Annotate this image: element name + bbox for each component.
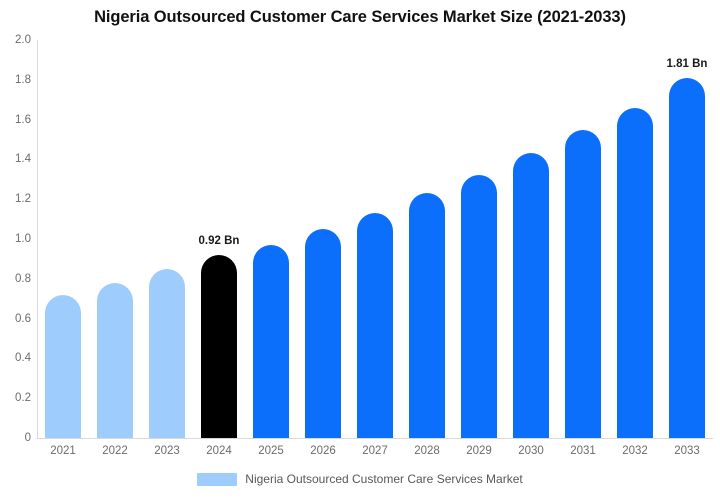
bar-2029[interactable] — [461, 175, 497, 438]
legend-swatch-icon — [197, 473, 237, 486]
y-tick-label: 1.6 — [15, 114, 31, 126]
x-tick-label-2026: 2026 — [297, 445, 349, 457]
bar-2027[interactable] — [357, 213, 393, 438]
x-tick-label-2027: 2027 — [349, 445, 401, 457]
bar-2031[interactable] — [565, 130, 601, 438]
bar-value-label-2024: 0.92 Bn — [199, 235, 240, 247]
x-tick-label-2030: 2030 — [505, 445, 557, 457]
bar-2030[interactable] — [513, 153, 549, 438]
bar-2022[interactable] — [97, 283, 133, 438]
y-tick-label: 0.2 — [15, 392, 31, 404]
y-axis: 2.01.81.61.41.21.00.80.60.40.20 — [0, 0, 31, 500]
y-tick-label: 0.8 — [15, 273, 31, 285]
bar-2028[interactable] — [409, 193, 445, 438]
bar-2032[interactable] — [617, 108, 653, 438]
y-tick-label: 0.4 — [15, 352, 31, 364]
x-tick-label-2028: 2028 — [401, 445, 453, 457]
bar-group[interactable] — [253, 40, 289, 438]
x-tick-label-2024: 2024 — [193, 445, 245, 457]
x-tick-label-2029: 2029 — [453, 445, 505, 457]
y-tick-label: 0.6 — [15, 313, 31, 325]
x-tick-label-2021: 2021 — [37, 445, 89, 457]
bar-chart: Nigeria Outsourced Customer Care Service… — [0, 0, 720, 500]
bar-group[interactable] — [97, 40, 133, 438]
x-axis-line — [37, 438, 713, 439]
bar-group[interactable]: 0.92 Bn — [201, 40, 237, 438]
y-tick-label: 1.4 — [15, 153, 31, 165]
bar-value-label-2033: 1.81 Bn — [667, 58, 708, 70]
bar-group[interactable] — [565, 40, 601, 438]
bar-2023[interactable] — [149, 269, 185, 438]
bar-group[interactable]: 1.81 Bn — [669, 40, 705, 438]
bar-2021[interactable] — [45, 295, 81, 438]
bar-group[interactable] — [461, 40, 497, 438]
y-tick-label: 1.0 — [15, 233, 31, 245]
x-tick-label-2023: 2023 — [141, 445, 193, 457]
bar-group[interactable] — [409, 40, 445, 438]
bar-2025[interactable] — [253, 245, 289, 438]
bar-2033[interactable] — [669, 78, 705, 438]
plot-area: 0.92 Bn1.81 Bn — [37, 40, 713, 438]
x-tick-label-2025: 2025 — [245, 445, 297, 457]
x-tick-label-2033: 2033 — [661, 445, 713, 457]
y-tick-label: 1.8 — [15, 74, 31, 86]
bar-group[interactable] — [513, 40, 549, 438]
bar-group[interactable] — [305, 40, 341, 438]
chart-legend: Nigeria Outsourced Customer Care Service… — [0, 472, 720, 486]
bar-group[interactable] — [149, 40, 185, 438]
bar-2026[interactable] — [305, 229, 341, 438]
bar-2024[interactable] — [201, 255, 237, 438]
legend-label: Nigeria Outsourced Customer Care Service… — [245, 472, 522, 486]
y-tick-label: 2.0 — [15, 34, 31, 46]
y-tick-label: 1.2 — [15, 193, 31, 205]
y-tick-label: 0 — [25, 432, 31, 444]
chart-title: Nigeria Outsourced Customer Care Service… — [0, 8, 720, 27]
bar-group[interactable] — [617, 40, 653, 438]
x-tick-label-2031: 2031 — [557, 445, 609, 457]
bar-group[interactable] — [357, 40, 393, 438]
bar-group[interactable] — [45, 40, 81, 438]
x-tick-label-2022: 2022 — [89, 445, 141, 457]
x-tick-label-2032: 2032 — [609, 445, 661, 457]
